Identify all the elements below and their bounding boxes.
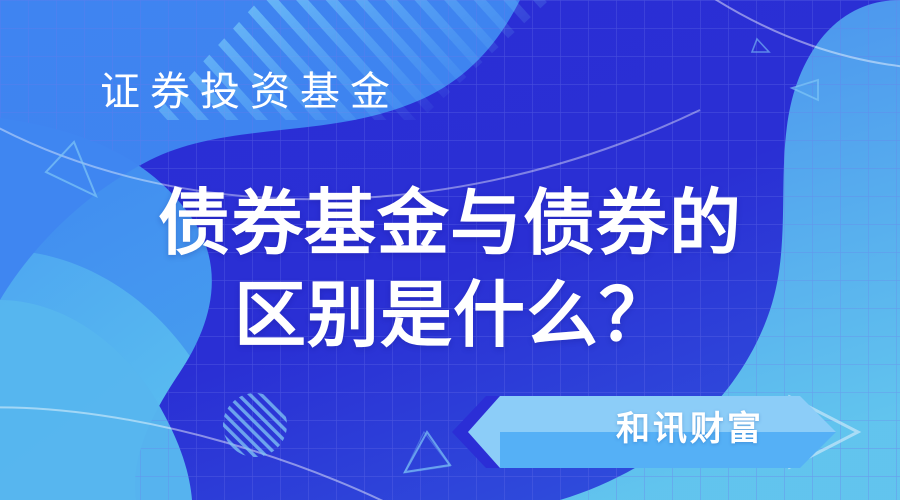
diagonal-stripes	[120, 0, 590, 140]
banner-top-half	[500, 396, 836, 432]
striped-circle	[223, 393, 287, 457]
brand-banner	[452, 396, 858, 468]
banner-bottom-half	[500, 432, 836, 468]
poster-canvas: 证券投资基金 债券基金与债券的 区别是什么？ 和讯财富	[0, 0, 900, 500]
poster-background-art	[0, 0, 900, 500]
